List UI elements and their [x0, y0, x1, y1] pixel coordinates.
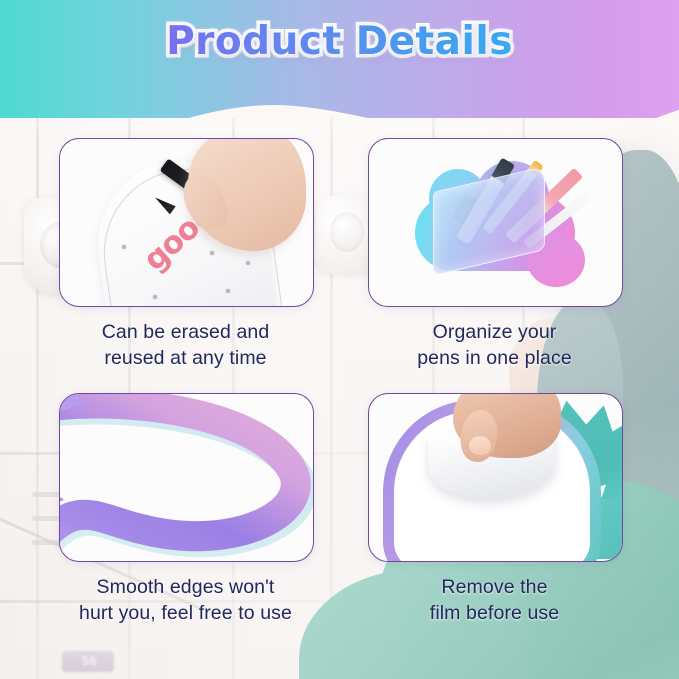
- feature-card-pen-holder[interactable]: [368, 138, 623, 307]
- feature-grid: good Can be erased and reused at any tim…: [59, 138, 621, 627]
- board-screw: [122, 245, 126, 249]
- feature-card-smooth-edges[interactable]: [59, 393, 314, 562]
- caption-line: Organize your: [368, 320, 621, 346]
- caption-line: Can be erased and: [59, 320, 312, 346]
- board-screw: [153, 295, 157, 299]
- product-details-infographic: 56 Product Details Product Details: [0, 0, 679, 679]
- feature-cell-smooth-edges: Smooth edges won't hurt you, feel free t…: [59, 393, 312, 626]
- photo-cloud-pen-holder: [369, 139, 622, 306]
- photo-smooth-edge-closeup: [60, 394, 313, 561]
- board-screw: [226, 289, 230, 293]
- header-wave-shape: [0, 78, 679, 118]
- feature-cell-remove-film: Remove the film before use: [368, 393, 621, 626]
- feature-row: Smooth edges won't hurt you, feel free t…: [59, 393, 621, 626]
- feature-caption-erasable: Can be erased and reused at any time: [59, 320, 312, 371]
- feature-row: good Can be erased and reused at any tim…: [59, 138, 621, 371]
- caption-line: hurt you, feel free to use: [59, 601, 312, 627]
- caption-line: film before use: [368, 601, 621, 627]
- edge-curve-graphic: [59, 393, 314, 562]
- feature-cell-pen-holder: Organize your pens in one place: [368, 138, 621, 371]
- feature-card-erasable[interactable]: good: [59, 138, 314, 307]
- caption-line: pens in one place: [368, 346, 621, 372]
- photo-peeling-film: [369, 394, 622, 561]
- feature-caption-remove-film: Remove the film before use: [368, 575, 621, 626]
- feature-card-remove-film[interactable]: [368, 393, 623, 562]
- feature-cell-erasable: good Can be erased and reused at any tim…: [59, 138, 312, 371]
- caption-line: Smooth edges won't: [59, 575, 312, 601]
- photo-hand-writing-good: good: [60, 139, 313, 306]
- board-screw: [210, 251, 214, 255]
- page-title: Product Details: [0, 22, 679, 61]
- caption-line: reused at any time: [59, 346, 312, 372]
- caption-line: Remove the: [368, 575, 621, 601]
- feature-caption-pen-holder: Organize your pens in one place: [368, 320, 621, 371]
- board-screw: [246, 261, 250, 265]
- feature-caption-smooth-edges: Smooth edges won't hurt you, feel free t…: [59, 575, 312, 626]
